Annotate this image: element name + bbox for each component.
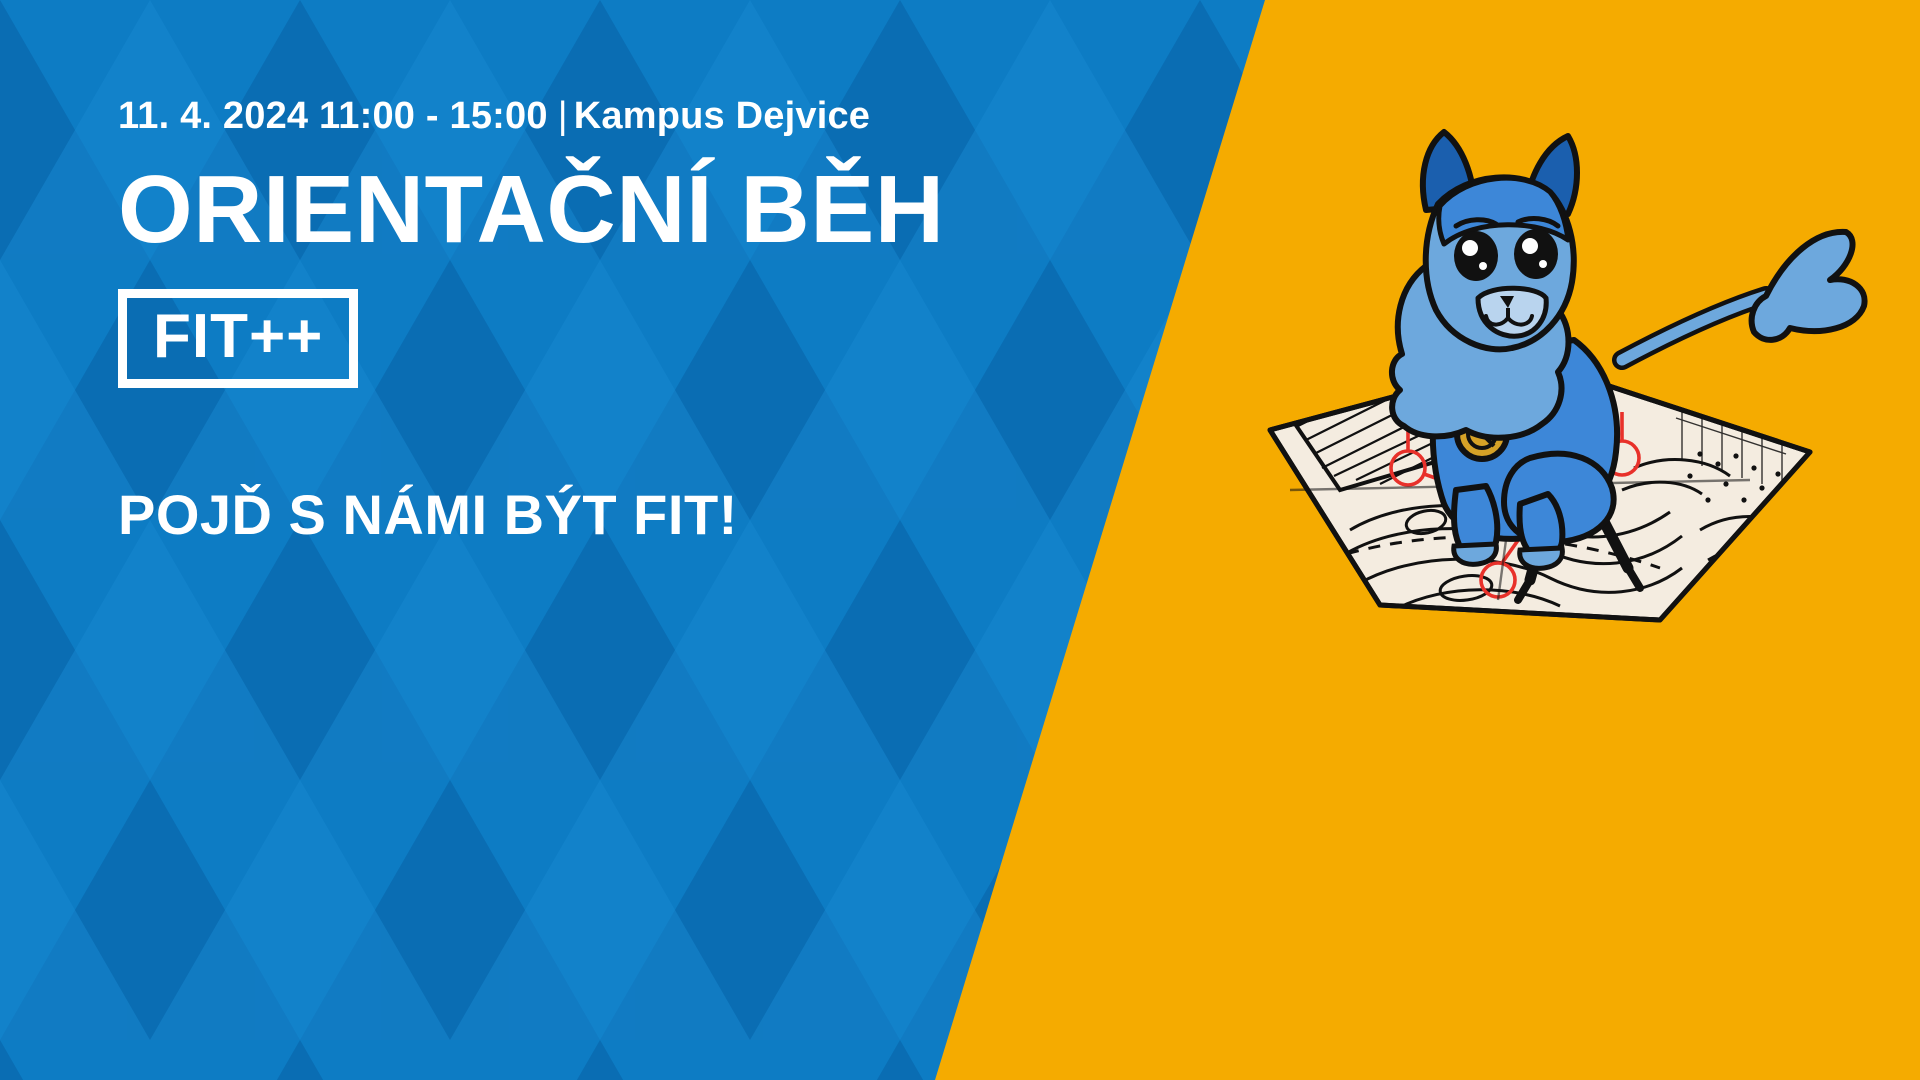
cat-mascot-icon: [1230, 60, 1870, 680]
tagline: POJĎ S NÁMI BÝT FIT!: [118, 482, 1118, 547]
event-meta-line: 11. 4. 2024 11:00 - 15:00|Kampus Dejvice: [118, 96, 1118, 138]
poster-text-content: 11. 4. 2024 11:00 - 15:00|Kampus Dejvice…: [118, 96, 1118, 547]
fit-plus-plus-logo: FIT++: [118, 289, 358, 388]
poster-canvas: 11. 4. 2024 11:00 - 15:00|Kampus Dejvice…: [0, 0, 1920, 1080]
page-title: ORIENTAČNÍ BĚH: [118, 160, 1118, 261]
logo-label: FIT++: [153, 304, 323, 369]
meta-separator: |: [548, 95, 574, 137]
mascot-tail: [1622, 232, 1865, 360]
event-datetime: 11. 4. 2024 11:00 - 15:00: [118, 95, 548, 137]
event-location: Kampus Dejvice: [574, 95, 870, 137]
mascot-head: [1426, 177, 1574, 349]
